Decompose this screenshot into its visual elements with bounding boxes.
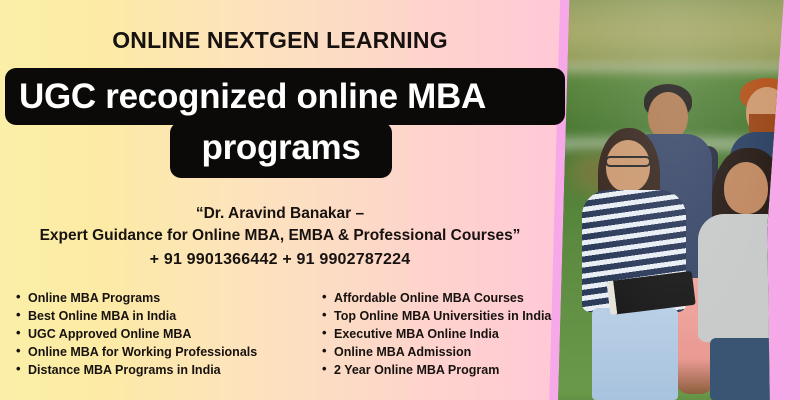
student-photo-panel (548, 0, 800, 400)
promo-banner: ONLINE NEXTGEN LEARNING UGC recognized o… (0, 0, 800, 400)
list-item: 2 Year Online MBA Program (322, 361, 572, 379)
brand-eyebrow: ONLINE NEXTGEN LEARNING (0, 27, 560, 54)
quote-line-2: Expert Guidance for Online MBA, EMBA & P… (0, 225, 560, 247)
list-item: Top Online MBA Universities in India (322, 307, 572, 325)
students-photo (548, 0, 800, 400)
list-item: UGC Approved Online MBA (16, 325, 300, 343)
contact-phone-numbers[interactable]: + 91 9901366442 + 91 9902787224 (0, 249, 560, 271)
list-item: Distance MBA Programs in India (16, 361, 300, 379)
list-item: Affordable Online MBA Courses (322, 289, 572, 307)
student-female-front-left (578, 128, 690, 400)
expert-quote: “Dr. Aravind Banakar – Expert Guidance f… (0, 203, 560, 271)
keyword-lists: Online MBA Programs Best Online MBA in I… (0, 289, 572, 379)
list-item: Online MBA for Working Professionals (16, 343, 300, 361)
headline-line-1: UGC recognized online MBA (5, 68, 565, 125)
bullet-list-left: Online MBA Programs Best Online MBA in I… (0, 289, 300, 379)
list-item: Best Online MBA in India (16, 307, 300, 325)
list-item: Online MBA Admission (322, 343, 572, 361)
glasses-icon (605, 156, 651, 167)
background-grass-upper (548, 0, 800, 72)
list-item: Online MBA Programs (16, 289, 300, 307)
list-item: Executive MBA Online India (322, 325, 572, 343)
jeans (592, 308, 678, 400)
quote-line-1: “Dr. Aravind Banakar – (0, 203, 560, 225)
banner-content: ONLINE NEXTGEN LEARNING UGC recognized o… (0, 0, 572, 400)
bullet-list-right: Affordable Online MBA Courses Top Online… (316, 289, 572, 379)
headline: UGC recognized online MBA programs (0, 68, 572, 178)
headline-line-2: programs (170, 122, 392, 178)
face (724, 162, 768, 214)
